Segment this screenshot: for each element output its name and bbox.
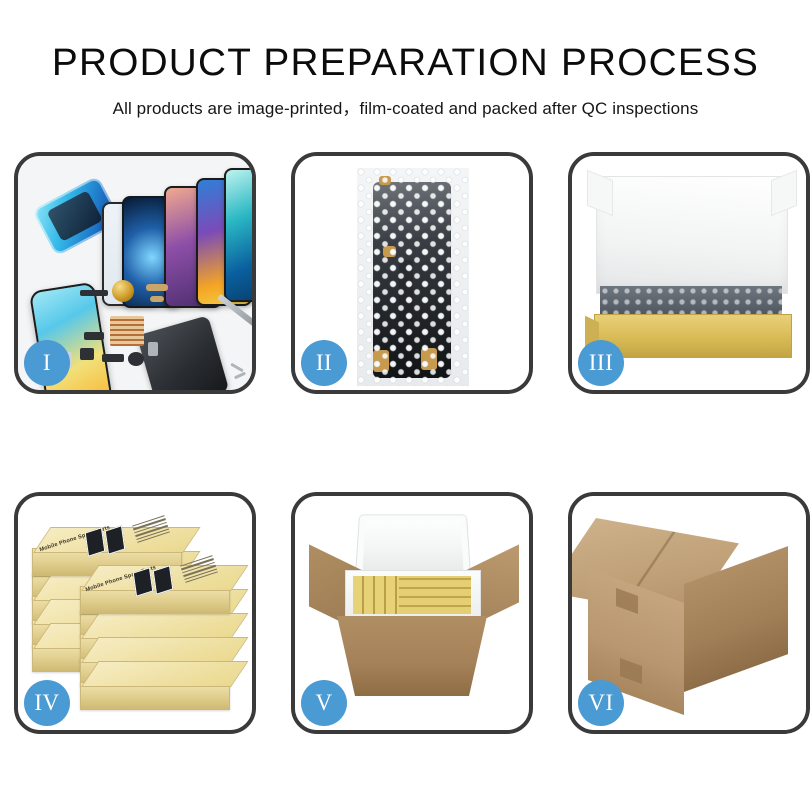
part-button-icon xyxy=(80,348,94,360)
packed-yellow-boxes-icon xyxy=(353,576,471,614)
step-badge-3: III xyxy=(578,340,624,386)
step-badge-5: V xyxy=(301,680,347,726)
bubble-texture-icon xyxy=(357,168,469,386)
part-camera-icon xyxy=(128,352,144,366)
part-connector-icon xyxy=(150,296,164,302)
step-badge-6: VI xyxy=(578,680,624,726)
step-badge-1: I xyxy=(24,340,70,386)
phone-display-teal-icon xyxy=(224,168,252,302)
header: PRODUCT PREPARATION PROCESS All products… xyxy=(0,0,811,119)
step-panel-5: V xyxy=(291,492,533,734)
product-preparation-infographic: PRODUCT PREPARATION PROCESS All products… xyxy=(0,0,811,811)
bubble-bag-icon xyxy=(357,168,469,386)
step-panel-6: VI xyxy=(568,492,810,734)
foam-lid-icon xyxy=(355,514,471,578)
chip-grid-icon xyxy=(110,316,144,346)
kraft-tray-box-icon xyxy=(594,314,792,358)
step-panel-2: II xyxy=(291,152,533,394)
part-strip-icon xyxy=(80,290,108,296)
process-steps-grid: I II I xyxy=(14,152,797,752)
page-subtitle: All products are image-printed，film-coat… xyxy=(0,94,811,119)
speaker-coin-icon xyxy=(112,280,134,302)
step-panel-1: I xyxy=(14,152,256,394)
part-flex-cable-icon xyxy=(146,284,168,291)
step-panel-3: III xyxy=(568,152,810,394)
part-screw-icon xyxy=(230,363,244,373)
part-battery-icon xyxy=(148,342,158,356)
white-box-lid-icon xyxy=(596,176,788,294)
part-bracket-icon xyxy=(84,332,104,340)
part-screw-2-icon xyxy=(234,372,246,380)
step-badge-4: IV xyxy=(24,680,70,726)
page-title: PRODUCT PREPARATION PROCESS xyxy=(0,44,811,82)
carton-front-icon xyxy=(337,616,487,696)
step-badge-2: II xyxy=(301,340,347,386)
stacked-box-front-4 xyxy=(80,682,230,710)
part-antenna-icon xyxy=(102,354,124,362)
step-panel-4: Mobile Phone Spare Parts Mobile Phone Sp… xyxy=(14,492,256,734)
